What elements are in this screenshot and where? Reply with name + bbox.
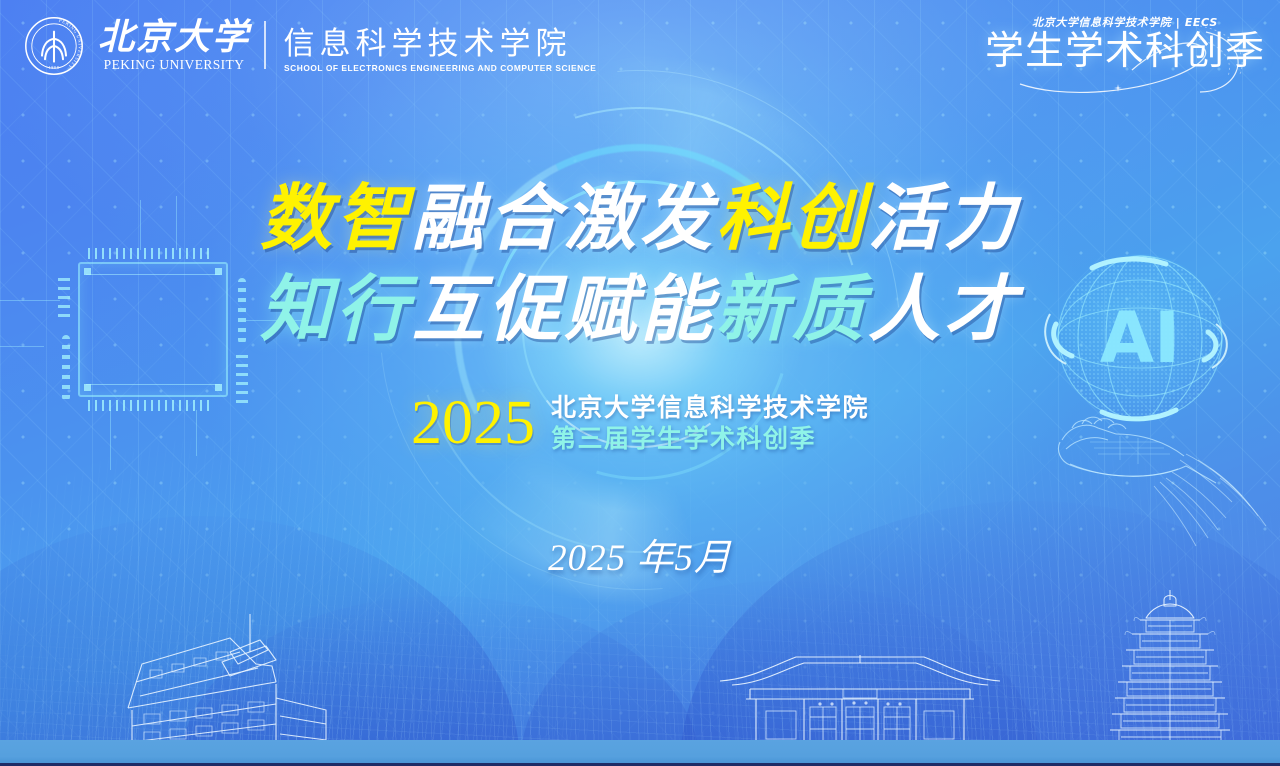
subtitle-row: 2025 北京大学信息科学技术学院 第三届学生学术科创季	[0, 392, 1280, 454]
title-line-2: 知行互促赋能新质人才	[0, 267, 1280, 352]
title-seg-2a: 知行	[260, 267, 412, 351]
event-date: 2025 年5月	[0, 527, 1280, 581]
subtitle-line-2: 第三届学生学术科创季	[551, 425, 869, 453]
school-name-en: SCHOOL OF ELECTRONICS ENGINEERING AND CO…	[284, 64, 596, 73]
university-name-en: PEKING UNIVERSITY	[104, 57, 245, 73]
subtitle-line-1: 北京大学信息科学技术学院	[551, 394, 869, 422]
school-name-cn: 信息科学技术学院	[284, 27, 590, 61]
pku-seal-icon: PEKING UNIVERSITY 1898	[24, 16, 84, 76]
season-logo: 北京大学信息科学技术学院 | EECS 学生学术科创季	[1000, 14, 1250, 96]
brand-lockup: PEKING UNIVERSITY 1898 北京大学 PEKING UNIVE…	[24, 16, 590, 76]
title-seg-2d: 人才	[868, 267, 1020, 351]
sparkle-icon	[1112, 82, 1124, 94]
university-name-cn: 北京大学	[98, 19, 250, 57]
brand-divider	[264, 21, 266, 69]
title-seg-2b: 互促赋能	[412, 267, 716, 351]
year-label: 2025	[411, 392, 535, 454]
title-seg-1a: 数智	[260, 176, 412, 260]
boya-pagoda-wireframe-icon	[1090, 586, 1250, 766]
title-seg-1b: 融合激发	[412, 176, 716, 260]
season-title: 学生学术科创季	[985, 32, 1265, 71]
title-seg-1c: 科创	[716, 176, 868, 260]
title-seg-1d: 活力	[868, 176, 1020, 260]
season-eyebrow: 北京大学信息科学技术学院 | EECS	[1032, 14, 1218, 30]
bottom-edge-band	[0, 740, 1280, 766]
poster-banner: PEKING UNIVERSITY 1898 北京大学 PEKING UNIVE…	[0, 0, 1280, 766]
title-seg-2c: 新质	[716, 267, 868, 351]
main-title: 数智融合激发科创活力 知行互促赋能新质人才	[0, 176, 1280, 352]
svg-text:1898: 1898	[49, 65, 60, 70]
title-line-1: 数智融合激发科创活力	[0, 176, 1280, 261]
header: PEKING UNIVERSITY 1898 北京大学 PEKING UNIVE…	[0, 0, 1280, 100]
